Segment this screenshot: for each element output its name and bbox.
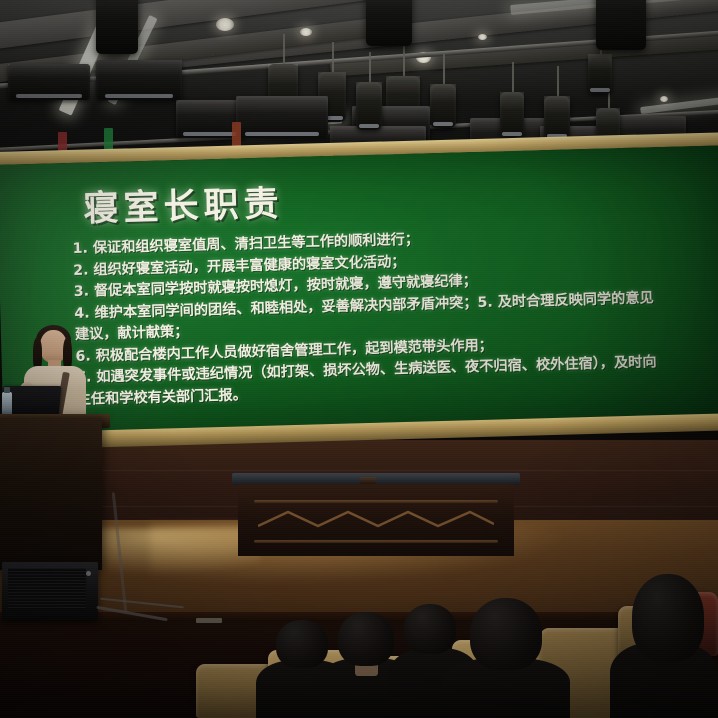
stage-light-fixture <box>96 60 182 100</box>
recessed-downlight <box>478 34 487 40</box>
speaker-grill <box>8 568 86 610</box>
slide-body-text: 1. 保证和组织寝室值周、清扫卫生等工作的顺利进行；2. 组织好寝室活动，开展丰… <box>72 220 718 411</box>
panel-rail <box>254 540 498 543</box>
stage-light-fixture <box>8 64 90 100</box>
audience-member-head <box>632 574 704 662</box>
light-hanging-rod <box>403 46 405 80</box>
gel-color-flag <box>232 122 241 146</box>
speaker-led-icon <box>86 571 91 576</box>
zigzag-molding-icon <box>258 508 494 530</box>
light-hanging-rod <box>332 42 334 76</box>
recessed-downlight <box>300 28 312 36</box>
projection-screen: 寝室长职责 1. 保证和组织寝室值周、清扫卫生等工作的顺利进行；2. 组织好寝室… <box>0 132 718 452</box>
table-front-panel <box>238 484 514 556</box>
slide-title: 寝室长职责 <box>83 175 284 231</box>
recessed-downlight <box>216 18 234 31</box>
light-hanging-rod <box>443 54 445 88</box>
stage-light-fixture <box>588 54 612 94</box>
stage-light-fixture <box>544 96 570 140</box>
table-knob <box>360 477 376 484</box>
hanging-speaker <box>366 0 412 46</box>
audience-member-head <box>470 598 542 670</box>
light-hanging-rod <box>557 66 559 100</box>
auditorium-photo: 寝室长职责 1. 保证和组织寝室值周、清扫卫生等工作的顺利进行；2. 组织好寝室… <box>0 0 718 718</box>
stage-light-fixture <box>500 92 524 138</box>
stage-table <box>232 473 520 559</box>
audience-member-head <box>338 612 394 666</box>
audience-member-head <box>276 620 328 668</box>
light-hanging-rod <box>283 34 285 68</box>
floor-monitor-speaker <box>2 562 98 620</box>
hanging-speaker <box>596 0 646 50</box>
stage-light-fixture <box>430 84 456 128</box>
hanging-speaker <box>96 0 138 54</box>
lectern <box>0 418 102 570</box>
light-hanging-rod <box>512 62 514 96</box>
light-hanging-rod <box>369 52 371 86</box>
recessed-downlight <box>660 96 668 102</box>
audience-member-head <box>404 604 456 654</box>
floor-tape <box>196 618 222 623</box>
slide-surface: 寝室长职责 1. 保证和组织寝室值周、清扫卫生等工作的顺利进行；2. 组织好寝室… <box>0 145 718 433</box>
panel-rail <box>254 500 498 503</box>
stage-light-fixture <box>236 96 328 138</box>
stage-light-fixture <box>356 82 382 130</box>
